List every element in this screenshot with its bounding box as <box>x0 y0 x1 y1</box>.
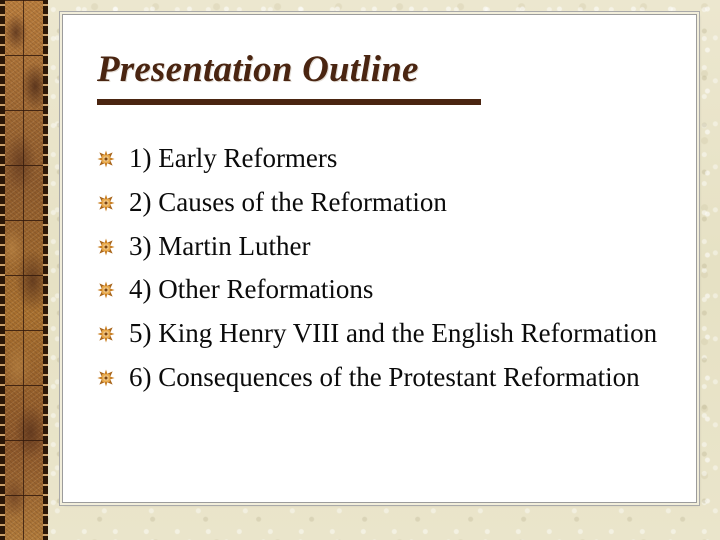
outline-item: 5) King Henry VIII and the English Refor… <box>95 316 674 351</box>
decorative-side-strip <box>0 0 48 540</box>
outline-item: 4) Other Reformations <box>95 272 674 307</box>
presentation-slide: Presentation Outline 1) Early Reformers <box>0 0 720 540</box>
outline-item-label: 6) Consequences of the Protestant Reform… <box>129 362 640 392</box>
six-point-burst-icon <box>97 325 115 343</box>
outline-item-label: 3) Martin Luther <box>129 231 310 261</box>
six-point-burst-icon <box>97 150 115 168</box>
outline-item: 3) Martin Luther <box>95 229 674 264</box>
outline-item: 6) Consequences of the Protestant Reform… <box>95 360 674 395</box>
outline-item-label: 5) King Henry VIII and the English Refor… <box>129 318 657 348</box>
page-title: Presentation Outline <box>97 51 419 90</box>
outline-item-label: 1) Early Reformers <box>129 143 337 173</box>
outline-item-label: 4) Other Reformations <box>129 274 373 304</box>
six-point-burst-icon <box>97 238 115 256</box>
outline-item: 1) Early Reformers <box>95 141 674 176</box>
strip-right-edge <box>43 0 48 540</box>
six-point-burst-icon <box>97 281 115 299</box>
strip-grid-lines <box>4 0 44 540</box>
strip-left-edge <box>0 0 5 540</box>
six-point-burst-icon <box>97 369 115 387</box>
outline-list: 1) Early Reformers 2) Causes of the Refo… <box>95 141 674 404</box>
outline-item-label: 2) Causes of the Reformation <box>129 187 447 217</box>
six-point-burst-icon <box>97 194 115 212</box>
slide-content-panel: Presentation Outline 1) Early Reformers <box>62 14 697 503</box>
title-underline-rule <box>97 99 481 105</box>
outline-item: 2) Causes of the Reformation <box>95 185 674 220</box>
